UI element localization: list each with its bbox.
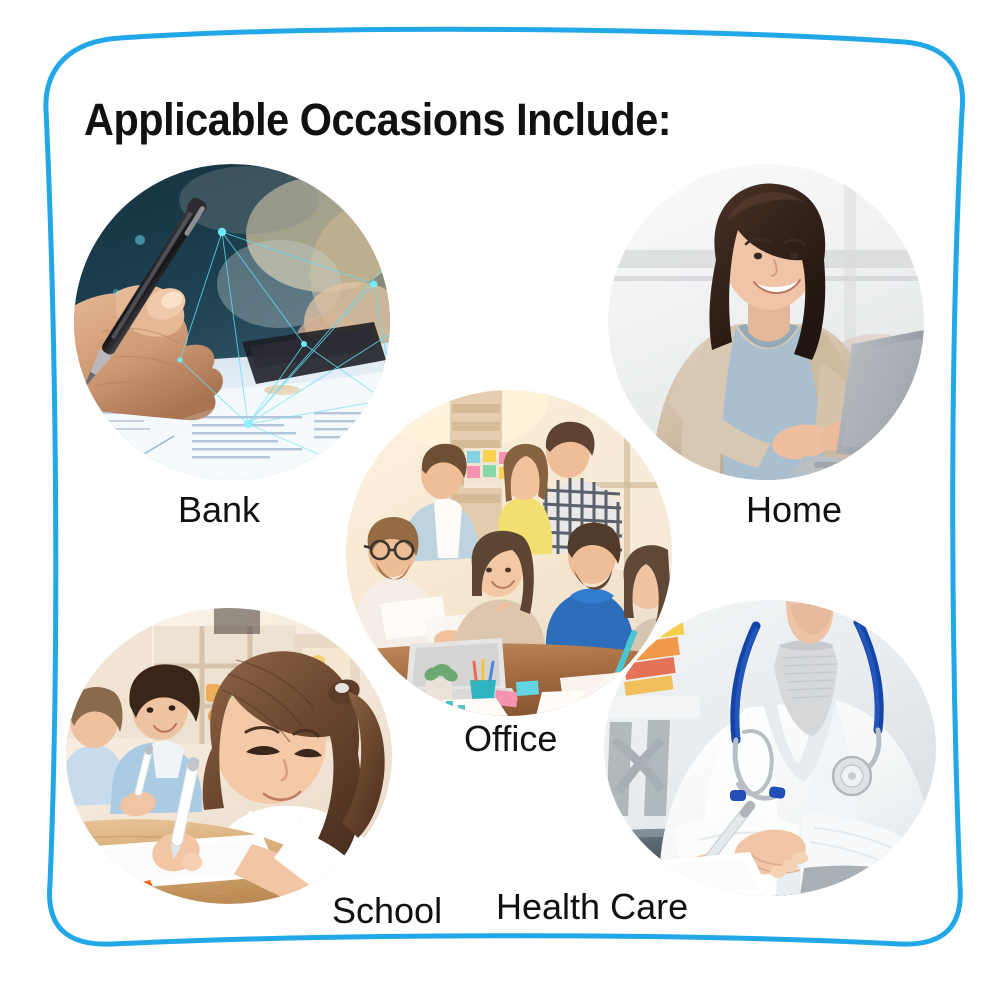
caption-school: School [332, 890, 442, 932]
caption-office: Office [464, 718, 557, 760]
page-title: Applicable Occasions Include: [84, 94, 671, 146]
caption-home: Home [746, 489, 842, 531]
poster-canvas: Applicable Occasions Include: [0, 0, 1000, 1000]
bank-photo [74, 164, 390, 480]
health-care-photo [604, 600, 936, 896]
caption-health-care: Health Care [496, 886, 688, 928]
school-photo [66, 608, 392, 904]
home-photo [608, 164, 924, 480]
office-photo [346, 390, 672, 716]
caption-bank: Bank [178, 489, 260, 531]
